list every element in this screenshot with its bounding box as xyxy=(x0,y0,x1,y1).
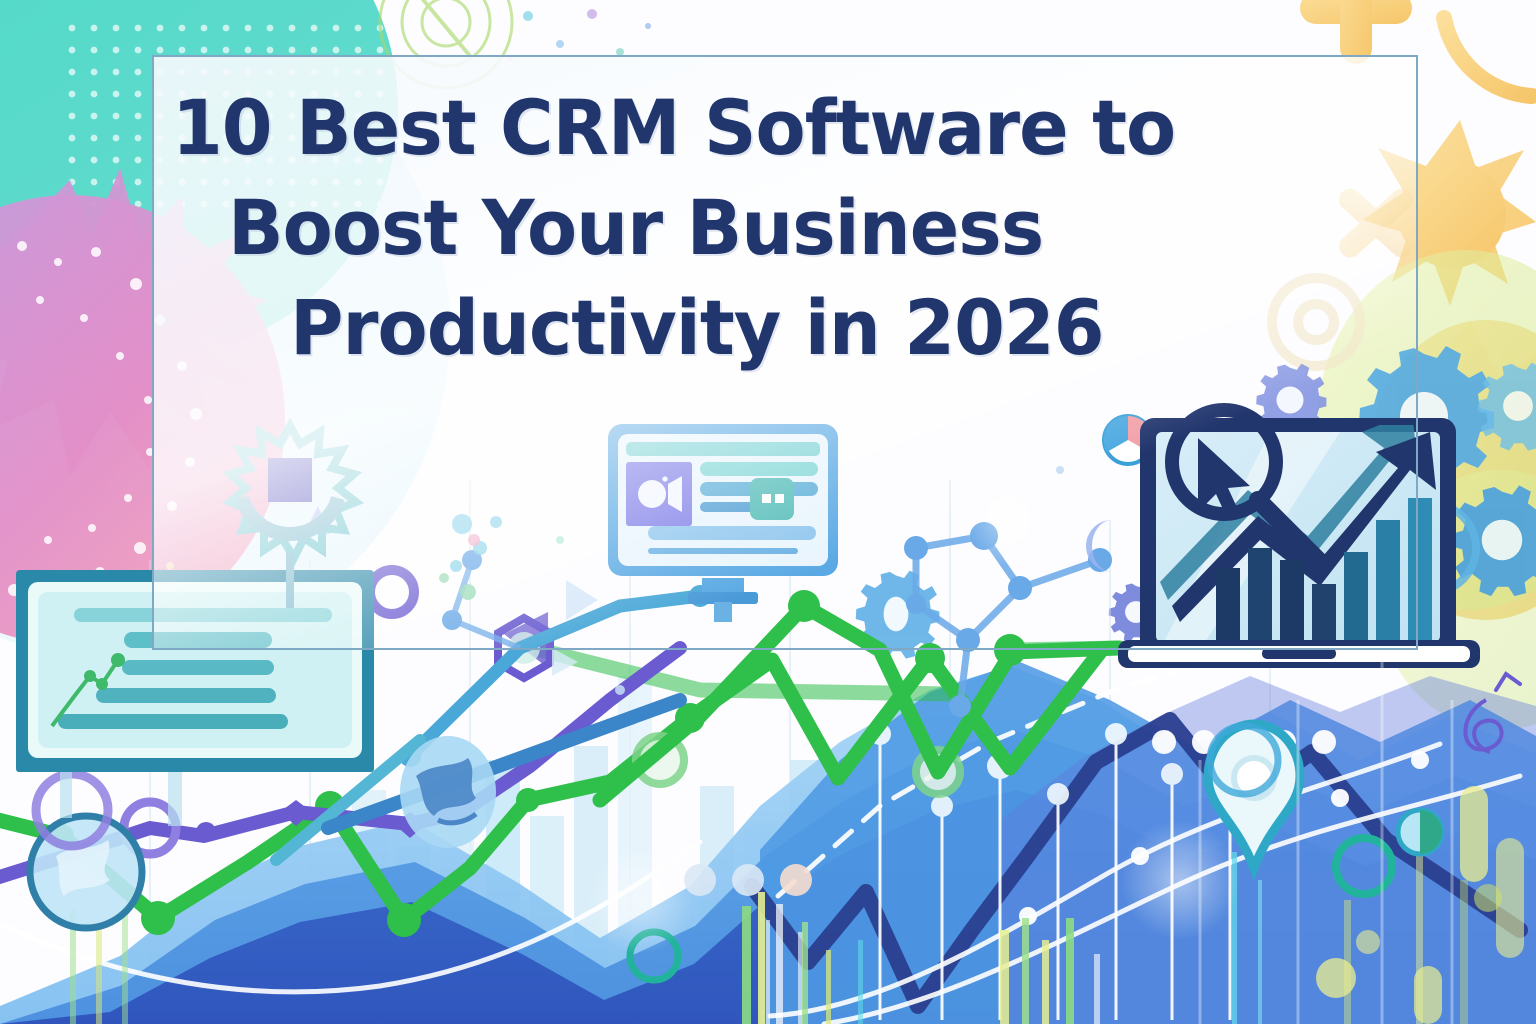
title-line-1: 10 Best CRM Software to xyxy=(172,78,1353,178)
poster-canvas: 10 Best CRM Software to Boost Your Busin… xyxy=(0,0,1536,1024)
title-line-3: Productivity in 2026 xyxy=(290,278,1358,378)
pie-chip-icon xyxy=(1398,810,1442,854)
page-title: 10 Best CRM Software to Boost Your Busin… xyxy=(172,78,1402,378)
globe-icon xyxy=(400,736,496,848)
pale-dot-cluster xyxy=(684,864,812,896)
title-line-2: Boost Your Business xyxy=(228,178,1355,278)
